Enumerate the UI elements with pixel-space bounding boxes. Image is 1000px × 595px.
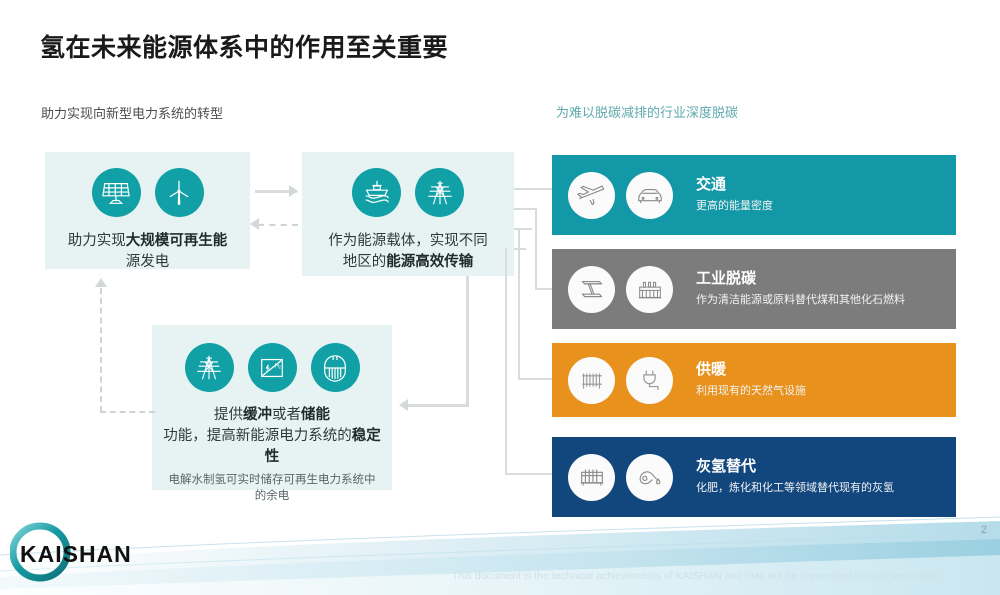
branch-trunk-p3-v [518, 228, 520, 380]
slide-canvas: 氢在未来能源体系中的作用至关重要 助力实现向新型电力系统的转型 为难以脱碳减排的… [0, 0, 1000, 595]
branch-trunk-p3-h [514, 228, 532, 230]
transmission-tower-icon [415, 168, 464, 217]
branch-trunk-p2-v [535, 208, 537, 289]
transmission-tower-icon [185, 343, 234, 392]
radiator-icon [568, 357, 615, 404]
sector-description: 利用现有的天然气设施 [696, 384, 806, 399]
icon-group: H 2 [152, 343, 392, 392]
flow-box-energy-carrier[interactable]: 作为能源载体，实现不同地区的能源高效传输 [302, 152, 514, 276]
icon-group [45, 168, 250, 217]
sector-description: 更高的能量密度 [696, 199, 773, 214]
page-number: 2 [981, 524, 987, 536]
icon-group [302, 168, 514, 217]
solar-panel-icon [92, 168, 141, 217]
wind-turbine-icon [155, 168, 204, 217]
car-icon [626, 172, 673, 219]
branch-trunk-p4-h [514, 248, 526, 250]
sector-panel-industry[interactable]: 工业脱碳 作为清洁能源或原料替代煤和其他化石燃料 [552, 249, 956, 329]
flow-box-text: 助力实现大规模可再生能源发电 [45, 231, 250, 273]
flow-box-renewable-generation[interactable]: 助力实现大规模可再生能源发电 [45, 152, 250, 269]
sector-description: 化肥，炼化和化工等领域替代现有的灰氢 [696, 481, 894, 496]
airplane-icon [568, 172, 615, 219]
branch-trunk-p4-v [505, 248, 507, 475]
sector-description: 作为清洁能源或原料替代煤和其他化石燃料 [696, 293, 905, 308]
branch-trunk-p3-h2 [518, 378, 554, 380]
storage-tank-icon [311, 343, 360, 392]
connector-b1-b2-arrow [289, 185, 298, 197]
flow-box-subtext: 电解水制氢可实时储存可再生电力系统中的余电 [152, 472, 392, 504]
svg-text:2: 2 [279, 364, 282, 369]
sector-heading: 工业脱碳 [696, 270, 905, 288]
sector-text-group: 交通 更高的能量密度 [696, 176, 773, 214]
connector-b2-b3-arrow [399, 399, 408, 411]
page-title: 氢在未来能源体系中的作用至关重要 [40, 28, 448, 64]
sector-heading: 灰氢替代 [696, 458, 894, 476]
connector-b3-b1-horizontal [100, 411, 155, 413]
sector-heading: 供暖 [696, 361, 806, 379]
branch-trunk-p2-h [514, 208, 537, 210]
test-tubes-icon [568, 454, 615, 501]
connector-b2-b1-line [258, 224, 298, 226]
subtitle-right: 为难以脱碳减排的行业深度脱碳 [556, 102, 738, 121]
branch-trunk-p1 [514, 188, 554, 190]
flow-box-text: 提供缓冲或者储能功能，提高新能源电力系统的稳定性 [152, 405, 392, 468]
branch-trunk-p4-h2 [505, 473, 554, 475]
steel-beam-icon [568, 266, 615, 313]
sector-text-group: 工业脱碳 作为清洁能源或原料替代煤和其他化石燃料 [696, 270, 905, 308]
flow-box-text: 作为能源载体，实现不同地区的能源高效传输 [302, 231, 514, 273]
connector-b2-b3-horizontal [407, 404, 468, 407]
power-plug-icon [626, 357, 673, 404]
connector-b3-b1-arrow [95, 278, 107, 287]
connector-b2-b1-arrow [250, 218, 259, 230]
h2-electrolyzer-icon: H 2 [248, 343, 297, 392]
sector-text-group: 灰氢替代 化肥，炼化和化工等领域替代现有的灰氢 [696, 458, 894, 496]
logo-wordmark: KAISHAN [20, 541, 132, 568]
connector-b2-b3-vertical [466, 276, 469, 407]
disclaimer-text: This document is the technical achieveme… [452, 570, 942, 582]
sector-heading: 交通 [696, 176, 773, 194]
factory-icon [626, 266, 673, 313]
subtitle-left: 助力实现向新型电力系统的转型 [41, 103, 223, 122]
fuel-nozzle-icon [626, 454, 673, 501]
flow-box-storage-buffer[interactable]: H 2 提供缓冲或者储能功能，提高新能源电力系统的稳定性 电解水制氢可实时储存可… [152, 325, 392, 490]
sector-text-group: 供暖 利用现有的天然气设施 [696, 361, 806, 399]
sector-panel-transport[interactable]: 交通 更高的能量密度 [552, 155, 956, 235]
connector-b3-b1-vertical [100, 288, 102, 412]
cargo-ship-icon [352, 168, 401, 217]
sector-panel-heating[interactable]: 供暖 利用现有的天然气设施 [552, 343, 956, 417]
